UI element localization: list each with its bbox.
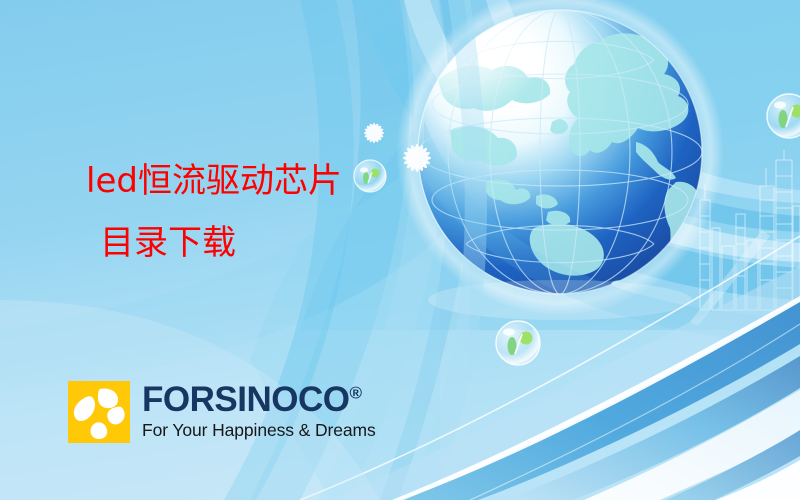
logo-wordmark-text: FORSINOCO xyxy=(142,380,349,419)
logo-tagline: For Your Happiness & Dreams xyxy=(142,422,376,440)
bubble-plant-center xyxy=(496,321,540,365)
page-title: led恒流驱动芯片 目录下载 xyxy=(86,164,506,260)
forsinoco-pinwheel-mark xyxy=(68,381,130,443)
registered-trademark-icon: ® xyxy=(349,383,362,402)
logo-wordmark: FORSINOCO® xyxy=(142,382,376,417)
headline-line-1: led恒流驱动芯片 xyxy=(86,164,506,198)
promo-banner: led恒流驱动芯片 目录下载 FORSINOCO® For Your Happi… xyxy=(0,0,800,500)
logo-text-block: FORSINOCO® For Your Happiness & Dreams xyxy=(142,381,376,440)
pinwheel-icon xyxy=(68,381,130,443)
headline-line-2: 目录下载 xyxy=(100,226,506,260)
brand-logo: FORSINOCO® For Your Happiness & Dreams xyxy=(68,381,376,443)
